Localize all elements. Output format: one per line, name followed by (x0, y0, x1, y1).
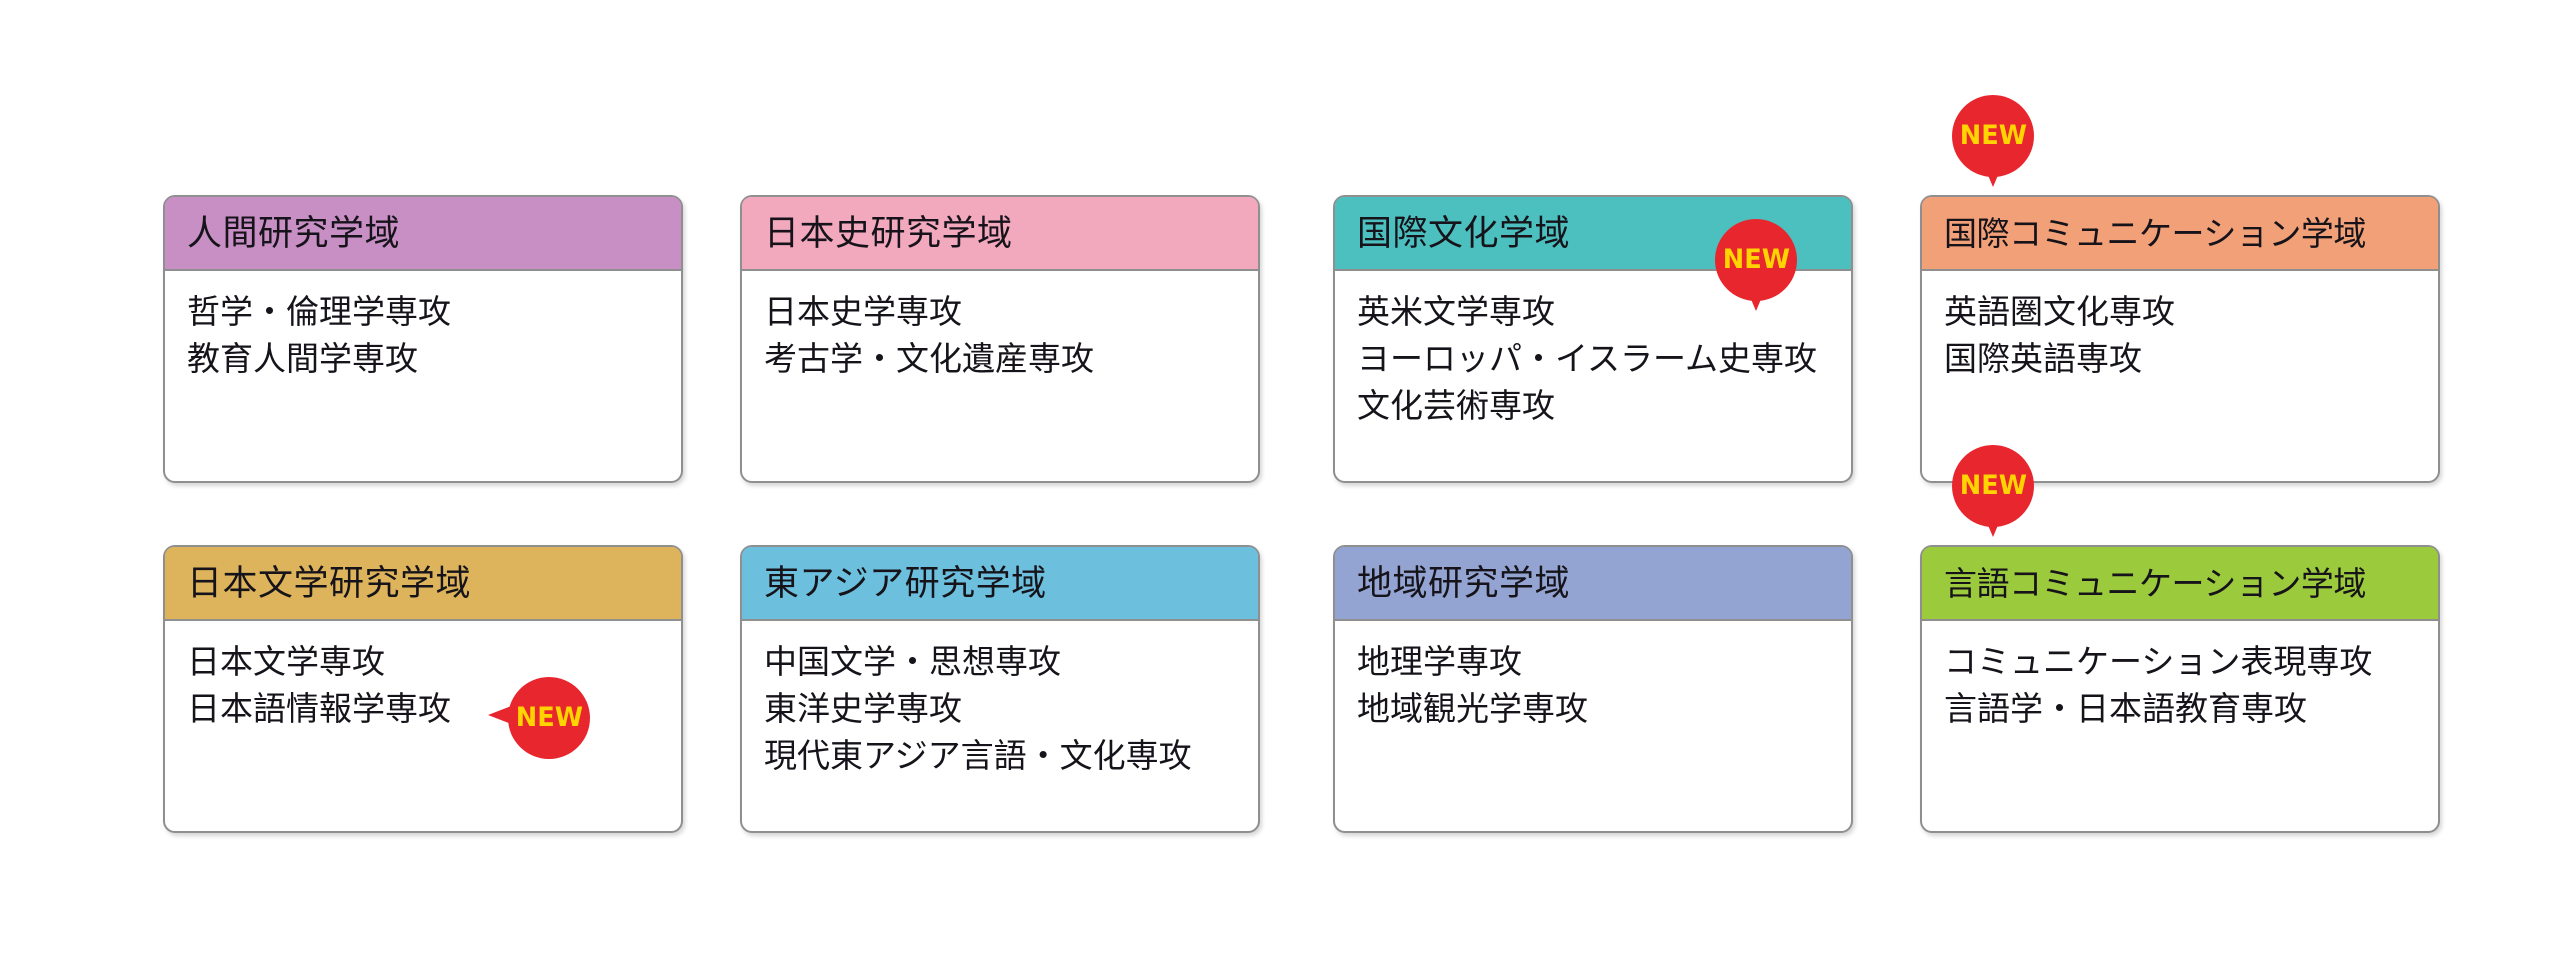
badge-label: NEW (1959, 472, 2026, 501)
badge-label: NEW (515, 704, 582, 733)
major-item: 考古学・文化遺産専攻 (764, 336, 1238, 383)
major-item: 哲学・倫理学専攻 (187, 289, 661, 336)
card-ningen-kenkyu[interactable]: 人間研究学域 哲学・倫理学専攻 教育人間学専攻 (163, 195, 683, 483)
major-item: コミュニケーション表現専攻 (1944, 639, 2418, 686)
card-header: 日本史研究学域 (742, 197, 1258, 271)
card-title: 人間研究学域 (187, 216, 400, 251)
card-body: 地理学専攻 地域観光学専攻 (1335, 621, 1851, 831)
card-title: 東アジア研究学域 (764, 566, 1047, 601)
new-badge-icon: NEW (508, 677, 590, 759)
card-body: コミュニケーション表現専攻 言語学・日本語教育専攻 (1922, 621, 2438, 831)
card-header: 人間研究学域 (165, 197, 681, 271)
card-body: 哲学・倫理学専攻 教育人間学専攻 (165, 271, 681, 481)
card-title: 言語コミュニケーション学域 (1944, 567, 2366, 600)
new-badge-icon: NEW (1952, 95, 2034, 177)
badge-bubble: NEW (1952, 95, 2034, 177)
card-header: 地域研究学域 (1335, 547, 1851, 621)
card-kokusai-communication[interactable]: 国際コミュニケーション学域 英語圏文化専攻 国際英語専攻 NEW (1920, 195, 2440, 483)
badge-bubble: NEW (508, 677, 590, 759)
new-badge-icon: NEW (1715, 219, 1797, 301)
major-item: 言語学・日本語教育専攻 (1944, 686, 2418, 733)
card-body: 中国文学・思想専攻 東洋史学専攻 現代東アジア言語・文化専攻 (742, 621, 1258, 831)
major-item: ヨーロッパ・イスラーム史専攻 (1357, 336, 1831, 383)
major-item: 国際英語専攻 (1944, 336, 2418, 383)
card-title: 国際コミュニケーション学域 (1944, 217, 2366, 250)
card-chiiki-kenkyu[interactable]: 地域研究学域 地理学専攻 地域観光学専攻 (1333, 545, 1853, 833)
card-title: 国際文化学域 (1357, 216, 1570, 251)
badge-label: NEW (1959, 122, 2026, 151)
card-header: 言語コミュニケーション学域 (1922, 547, 2438, 621)
card-body: 日本史学専攻 考古学・文化遺産専攻 (742, 271, 1258, 481)
card-header: 東アジア研究学域 (742, 547, 1258, 621)
badge-bubble: NEW (1715, 219, 1797, 301)
major-item: 現代東アジア言語・文化専攻 (764, 733, 1238, 780)
card-nihonshi-kenkyu[interactable]: 日本史研究学域 日本史学専攻 考古学・文化遺産専攻 (740, 195, 1260, 483)
card-title: 日本史研究学域 (764, 216, 1013, 251)
card-header: 国際コミュニケーション学域 (1922, 197, 2438, 271)
card-gengo-communication[interactable]: 言語コミュニケーション学域 コミュニケーション表現専攻 言語学・日本語教育専攻 … (1920, 545, 2440, 833)
new-badge-icon: NEW (1952, 445, 2034, 527)
major-item: 英語圏文化専攻 (1944, 289, 2418, 336)
card-higashi-asia-kenkyu[interactable]: 東アジア研究学域 中国文学・思想専攻 東洋史学専攻 現代東アジア言語・文化専攻 (740, 545, 1260, 833)
major-item: 地理学専攻 (1357, 639, 1831, 686)
card-kokusai-bunka[interactable]: 国際文化学域 英米文学専攻 ヨーロッパ・イスラーム史専攻 文化芸術専攻 NEW (1333, 195, 1853, 483)
badge-label: NEW (1722, 246, 1789, 275)
card-title: 地域研究学域 (1357, 566, 1570, 601)
major-item: 日本史学専攻 (764, 289, 1238, 336)
major-item: 地域観光学専攻 (1357, 686, 1831, 733)
major-item: 中国文学・思想専攻 (764, 639, 1238, 686)
department-card-board: 人間研究学域 哲学・倫理学専攻 教育人間学専攻 日本史研究学域 日本史学専攻 考… (0, 0, 2560, 960)
card-header: 日本文学研究学域 (165, 547, 681, 621)
card-nihonbungaku-kenkyu[interactable]: 日本文学研究学域 日本文学専攻 日本語情報学専攻 NEW (163, 545, 683, 833)
major-item: 東洋史学専攻 (764, 686, 1238, 733)
card-body: 日本文学専攻 日本語情報学専攻 (165, 621, 681, 831)
card-title: 日本文学研究学域 (187, 566, 471, 601)
major-item: 教育人間学専攻 (187, 336, 661, 383)
badge-bubble: NEW (1952, 445, 2034, 527)
card-body: 英米文学専攻 ヨーロッパ・イスラーム史専攻 文化芸術専攻 (1335, 271, 1851, 481)
major-item: 文化芸術専攻 (1357, 383, 1831, 430)
